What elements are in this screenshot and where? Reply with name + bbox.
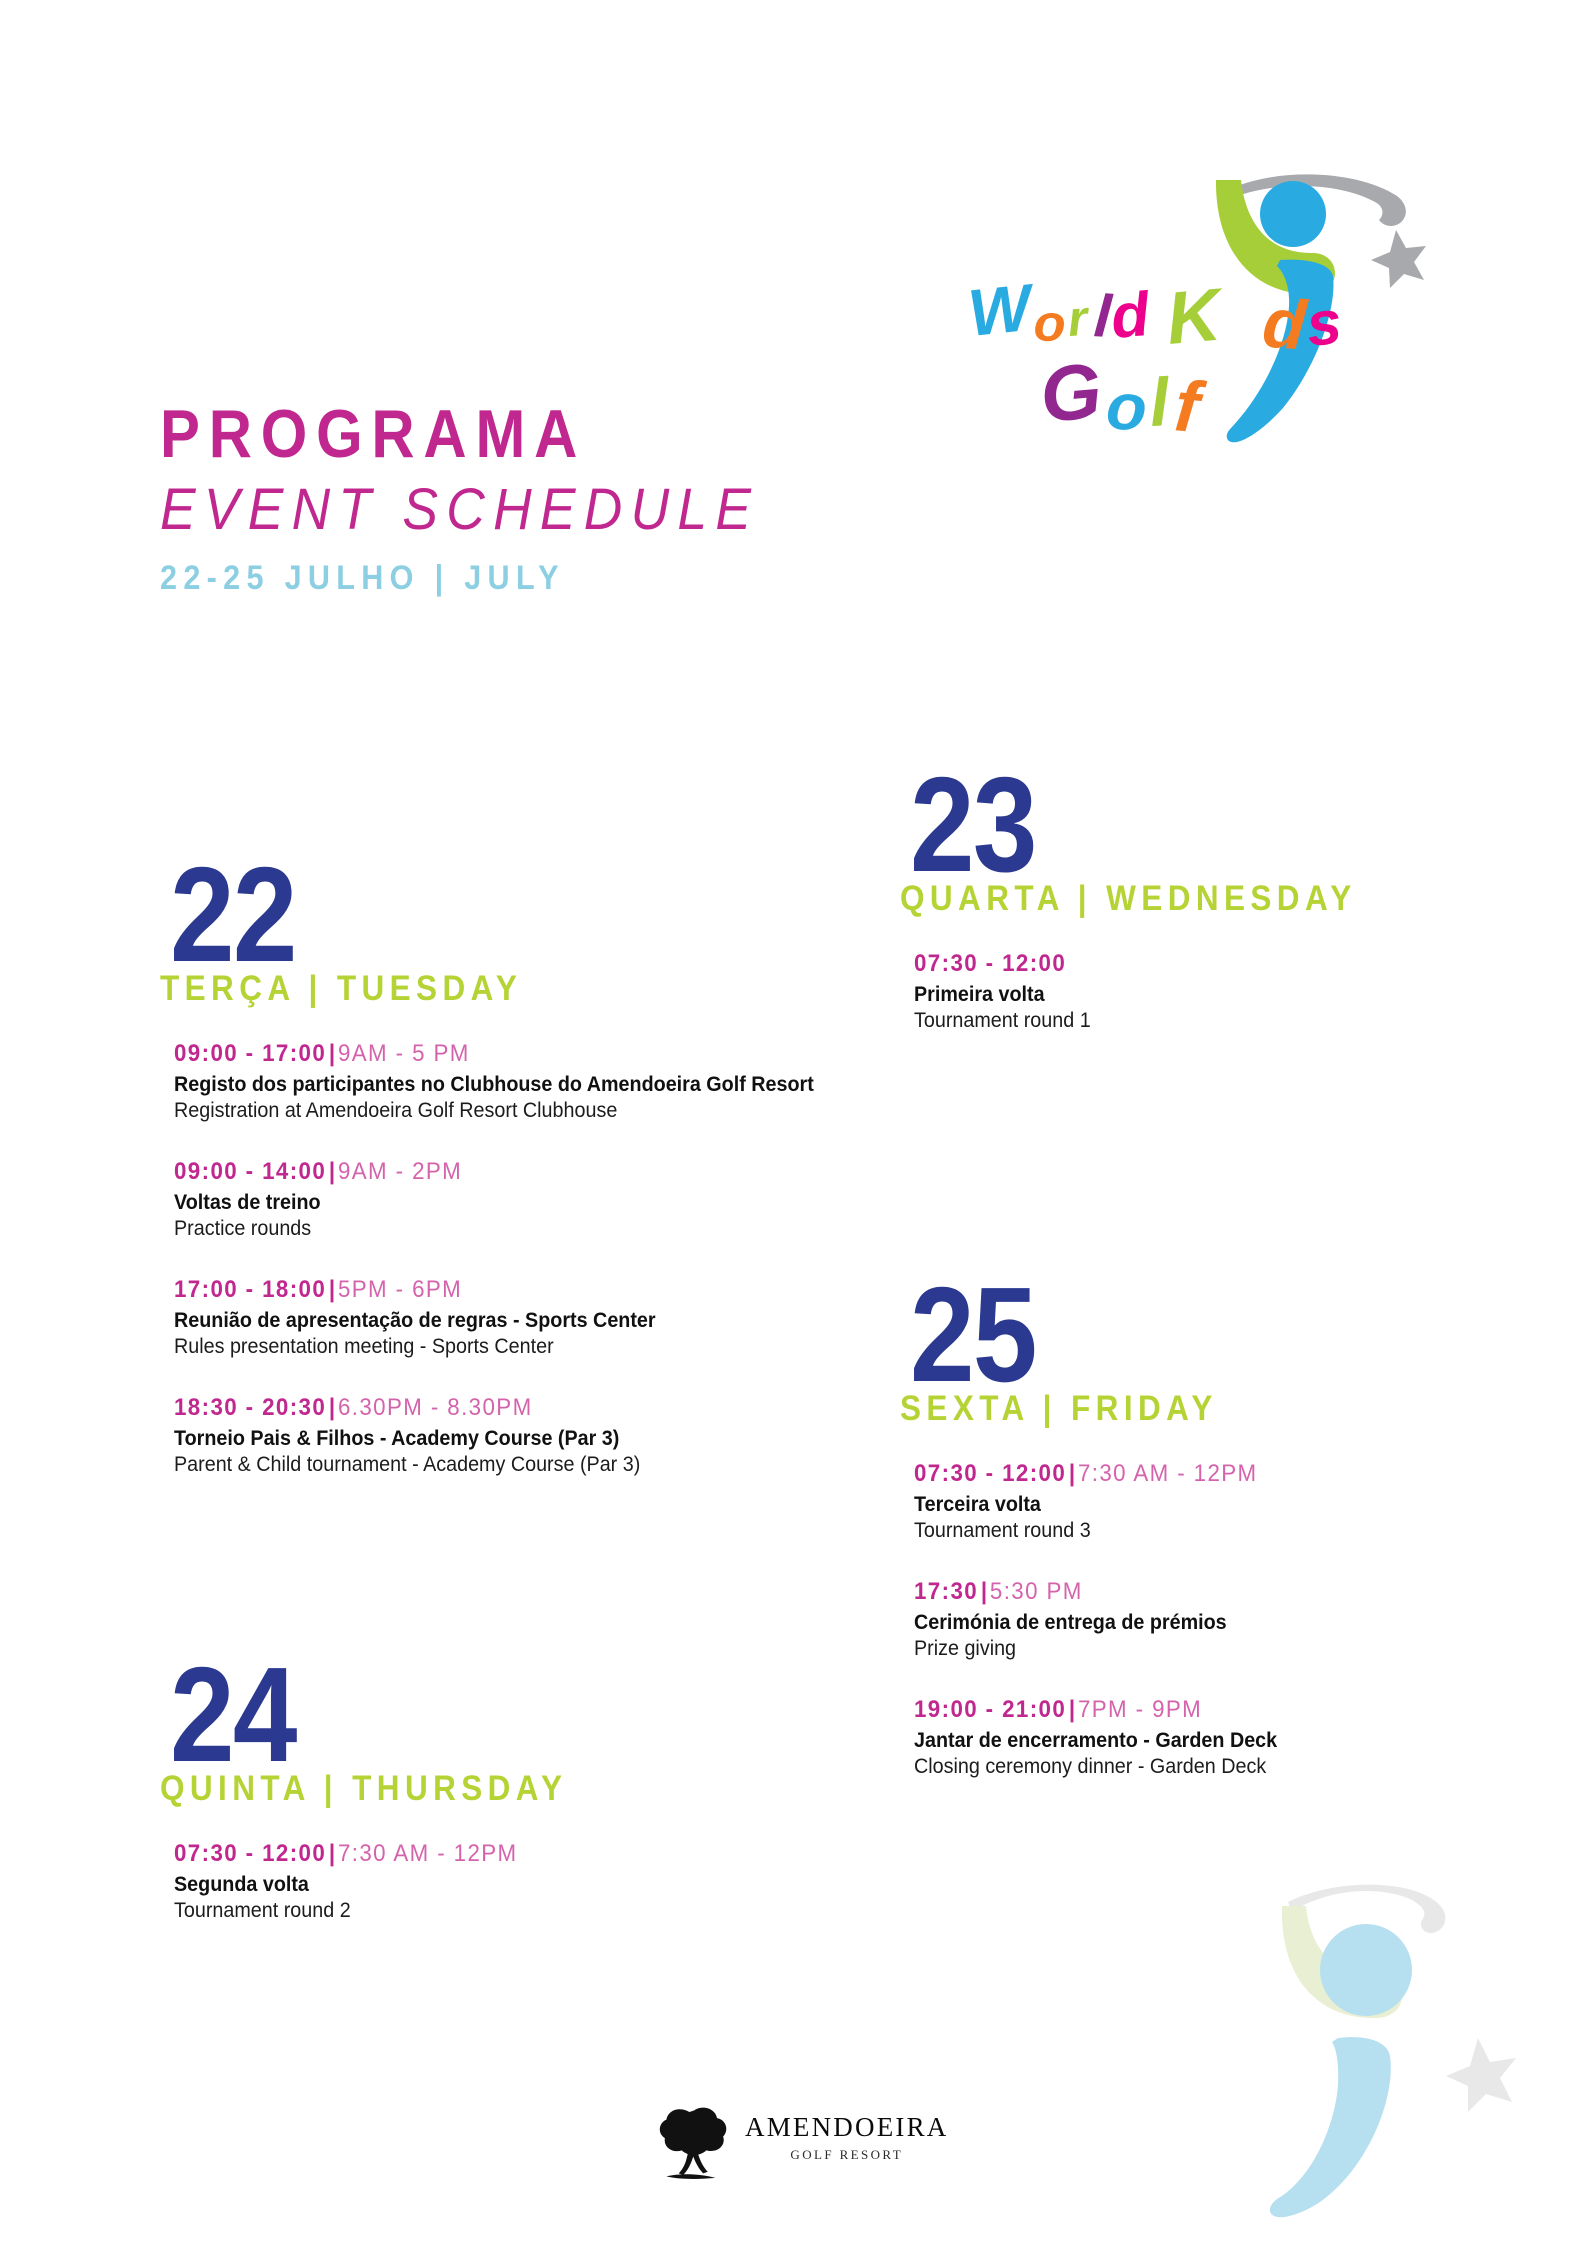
event-item: 17:00 - 18:00|5PM - 6PM Reunião de apres… (174, 1276, 800, 1360)
day-events-list: 07:30 - 12:00 Primeira volta Tournament … (900, 950, 1540, 1034)
resort-name: AMENDOEIRA (745, 2114, 949, 2141)
day-block-22: 22 TERÇA | TUESDAY 09:00 - 17:00|9AM - 5… (160, 860, 800, 1478)
event-item: 17:30|5:30 PM Cerimónia de entrega de pr… (914, 1578, 1540, 1662)
event-item: 19:00 - 21:00|7PM - 9PM Jantar de encerr… (914, 1696, 1540, 1780)
amendoeira-resort-logo: AMENDOEIRA GOLF RESORT (655, 2080, 935, 2190)
event-time: 07:30 - 12:00|7:30 AM - 12PM (914, 1460, 1496, 1488)
event-title-pt: Reunião de apresentação de regras - Spor… (174, 1308, 762, 1333)
day-weekday: QUARTA | WEDNESDAY (900, 881, 1476, 916)
event-time-en: 9AM - 5 PM (338, 1040, 470, 1067)
event-title-pt: Jantar de encerramento - Garden Deck (914, 1728, 1502, 1753)
poster-header: PROGRAMA EVENT SCHEDULE 22-25 JULHO | JU… (160, 400, 920, 595)
event-item: 18:30 - 20:30|6.30PM - 8.30PM Torneio Pa… (174, 1394, 800, 1478)
svg-text:G: G (1037, 346, 1105, 439)
day-number: 23 (910, 770, 1452, 881)
event-title-en: Parent & Child tournament - Academy Cour… (174, 1452, 762, 1477)
svg-text:r: r (1066, 290, 1092, 347)
event-time-pt: 09:00 - 14:00 (174, 1158, 326, 1185)
event-time-en: 5PM - 6PM (338, 1276, 462, 1303)
day-weekday: QUINTA | THURSDAY (160, 1771, 736, 1806)
logo-word-golf: G o l f (1037, 346, 1209, 449)
page-title: PROGRAMA (160, 400, 829, 468)
event-time: 17:00 - 18:00|5PM - 6PM (174, 1276, 756, 1304)
event-time: 18:30 - 20:30|6.30PM - 8.30PM (174, 1394, 756, 1422)
day-events-list: 07:30 - 12:00|7:30 AM - 12PM Segunda vol… (160, 1840, 800, 1924)
day-weekday: TERÇA | TUESDAY (160, 971, 736, 1006)
day-block-25: 25 SEXTA | FRIDAY 07:30 - 12:00|7:30 AM … (900, 1280, 1540, 1780)
event-time-separator: | (1066, 1460, 1078, 1487)
event-time-pt: 07:30 - 12:00 (174, 1840, 326, 1867)
event-time-pt: 09:00 - 17:00 (174, 1040, 326, 1067)
event-item: 09:00 - 17:00|9AM - 5 PM Registo dos par… (174, 1040, 800, 1124)
event-time-separator: | (326, 1276, 338, 1303)
event-time-en: 7:30 AM - 12PM (1078, 1460, 1258, 1487)
event-time: 07:30 - 12:00|7:30 AM - 12PM (174, 1840, 756, 1868)
event-time-pt: 07:30 - 12:00 (914, 950, 1066, 977)
golfer-head-shape (1320, 1924, 1412, 2016)
event-title-en: Registration at Amendoeira Golf Resort C… (174, 1098, 762, 1123)
event-time-pt: 19:00 - 21:00 (914, 1696, 1066, 1723)
day-block-24: 24 QUINTA | THURSDAY 07:30 - 12:00|7:30 … (160, 1660, 800, 1924)
event-time-en: 5:30 PM (990, 1578, 1083, 1605)
star-icon (1371, 230, 1426, 288)
event-item: 09:00 - 14:00|9AM - 2PM Voltas de treino… (174, 1158, 800, 1242)
day-weekday: SEXTA | FRIDAY (900, 1391, 1476, 1426)
svg-text:K: K (1163, 272, 1228, 360)
svg-text:d: d (1108, 280, 1153, 352)
event-time: 17:30|5:30 PM (914, 1578, 1496, 1606)
golfer-body-shape (1270, 2037, 1391, 2217)
event-title-en: Closing ceremony dinner - Garden Deck (914, 1754, 1502, 1779)
event-title-en: Tournament round 1 (914, 1008, 1502, 1033)
event-title-en: Tournament round 3 (914, 1518, 1502, 1543)
event-title-en: Prize giving (914, 1636, 1502, 1661)
event-time-separator: | (978, 1578, 990, 1605)
event-item: 07:30 - 12:00|7:30 AM - 12PM Terceira vo… (914, 1460, 1540, 1544)
almond-tree-icon (655, 2089, 733, 2181)
event-title-pt: Voltas de treino (174, 1190, 762, 1215)
event-time-pt: 17:00 - 18:00 (174, 1276, 326, 1303)
event-time-separator: | (326, 1158, 338, 1185)
event-item: 07:30 - 12:00 Primeira volta Tournament … (914, 950, 1540, 1034)
event-time: 09:00 - 14:00|9AM - 2PM (174, 1158, 756, 1186)
event-time: 07:30 - 12:00 (914, 950, 1496, 978)
event-time-pt: 17:30 (914, 1578, 978, 1605)
star-icon (1446, 2038, 1516, 2112)
event-title-pt: Torneio Pais & Filhos - Academy Course (… (174, 1426, 762, 1451)
svg-text:o: o (1104, 368, 1149, 445)
svg-text:o: o (1032, 294, 1067, 354)
event-time-en: 7:30 AM - 12PM (338, 1840, 518, 1867)
event-time-en: 6.30PM - 8.30PM (338, 1394, 533, 1421)
event-title-pt: Segunda volta (174, 1872, 762, 1897)
event-dates: 22-25 JULHO | JULY (160, 561, 844, 595)
day-number: 24 (170, 1660, 712, 1771)
day-block-23: 23 QUARTA | WEDNESDAY 07:30 - 12:00 Prim… (900, 770, 1540, 1034)
svg-text:W: W (965, 269, 1039, 350)
svg-text:l: l (1148, 364, 1173, 441)
event-time: 09:00 - 17:00|9AM - 5 PM (174, 1040, 756, 1068)
event-title-pt: Terceira volta (914, 1492, 1502, 1517)
world-kids-golf-logo: W o r l d K d s G o l f (965, 140, 1445, 460)
event-title-pt: Cerimónia de entrega de prémios (914, 1610, 1502, 1635)
event-time-separator: | (1066, 1696, 1078, 1723)
event-title-en: Tournament round 2 (174, 1898, 762, 1923)
event-time-separator: | (326, 1040, 338, 1067)
logo-word-world: W o r l d (965, 269, 1153, 353)
golfer-watermark-icon (1190, 1850, 1587, 2250)
page-subtitle: EVENT SCHEDULE (160, 480, 859, 541)
event-time-pt: 18:30 - 20:30 (174, 1394, 326, 1421)
day-events-list: 09:00 - 17:00|9AM - 5 PM Registo dos par… (160, 1040, 800, 1478)
event-time-separator: | (326, 1840, 338, 1867)
event-time-separator: | (326, 1394, 338, 1421)
svg-text:f: f (1172, 366, 1209, 448)
event-time: 19:00 - 21:00|7PM - 9PM (914, 1696, 1496, 1724)
day-number: 25 (910, 1280, 1452, 1391)
event-title-en: Rules presentation meeting - Sports Cent… (174, 1334, 762, 1359)
event-title-en: Practice rounds (174, 1216, 762, 1241)
event-time-en: 9AM - 2PM (338, 1158, 462, 1185)
event-time-en: 7PM - 9PM (1078, 1696, 1202, 1723)
resort-wordmark: AMENDOEIRA GOLF RESORT (745, 2110, 949, 2161)
event-title-pt: Primeira volta (914, 982, 1502, 1007)
golfer-head-shape (1260, 181, 1326, 247)
event-time-pt: 07:30 - 12:00 (914, 1460, 1066, 1487)
event-time-separator (1066, 950, 1072, 977)
day-number: 22 (170, 860, 712, 971)
resort-subtitle: GOLF RESORT (745, 2148, 949, 2161)
event-item: 07:30 - 12:00|7:30 AM - 12PM Segunda vol… (174, 1840, 800, 1924)
day-events-list: 07:30 - 12:00|7:30 AM - 12PM Terceira vo… (900, 1460, 1540, 1780)
event-title-pt: Registo dos participantes no Clubhouse d… (174, 1072, 762, 1097)
svg-text:s: s (1303, 288, 1345, 360)
